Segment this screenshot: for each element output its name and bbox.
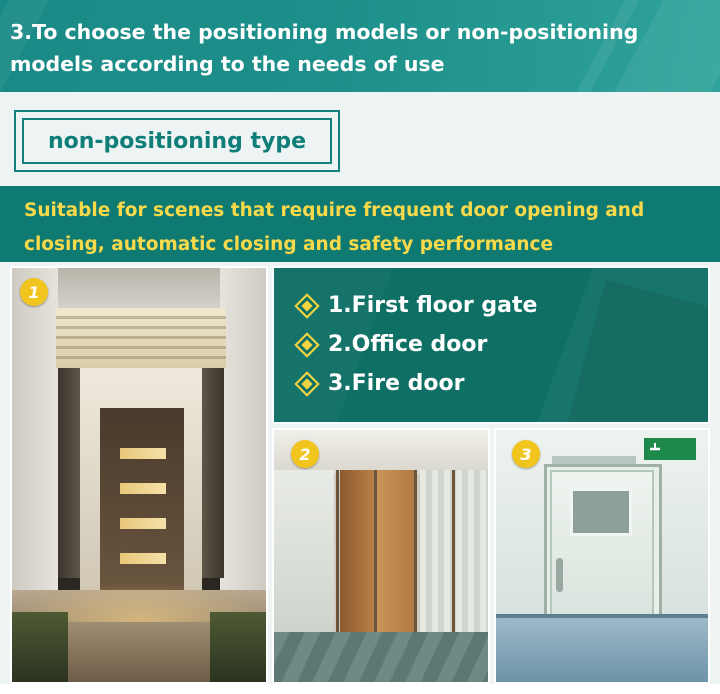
photo1-door-trim	[120, 553, 166, 564]
photo-badge-2: 2	[291, 440, 319, 468]
photo-badge-3: 3	[512, 440, 540, 468]
photo1-left-wall	[12, 268, 58, 624]
photo2-mullion	[374, 470, 377, 638]
slide-page: 3.To choose the positioning models or no…	[0, 0, 720, 694]
photo3-vision-panel	[570, 488, 632, 536]
photo1-door-trim	[120, 448, 166, 459]
photo1-right-planting	[210, 612, 266, 682]
list-item-label: 1.First floor gate	[328, 293, 537, 318]
description-band: Suitable for scenes that require frequen…	[0, 186, 720, 262]
photo1-canopy	[56, 308, 226, 368]
list-item-label: 2.Office door	[328, 332, 487, 357]
application-list-panel: 1.First floor gate 2.Office door 3.Fire …	[272, 266, 710, 424]
diamond-bullet-icon	[297, 296, 317, 316]
type-label-text: non-positioning type	[48, 129, 306, 154]
page-title: 3.To choose the positioning models or no…	[10, 16, 716, 80]
photo1-ceiling	[58, 268, 224, 310]
photo1-left-planting	[12, 612, 68, 682]
exit-sign-icon	[644, 438, 696, 460]
list-item: 1.First floor gate	[300, 286, 537, 325]
photo1-right-wall	[220, 268, 266, 624]
photo2-glass-partition-right	[420, 470, 490, 638]
application-list: 1.First floor gate 2.Office door 3.Fire …	[300, 286, 537, 403]
photo3-floor	[496, 618, 708, 682]
photo1-door-trim	[120, 483, 166, 494]
photo2-glass-partition-left	[274, 470, 334, 638]
photo3-door-handle	[556, 558, 563, 592]
photo2-mullion	[452, 470, 455, 638]
photo2-floor	[274, 632, 488, 682]
description-text: Suitable for scenes that require frequen…	[24, 194, 694, 262]
photo1-left-column	[58, 368, 80, 578]
photo-badge-1: 1	[20, 278, 48, 306]
diamond-bullet-icon	[297, 374, 317, 394]
photo1-right-column	[202, 368, 224, 578]
photo2-mullion	[336, 470, 339, 638]
photo2-mullion	[414, 470, 417, 638]
type-label: non-positioning type	[14, 110, 340, 174]
photo1-door-trim	[120, 518, 166, 529]
list-item: 2.Office door	[300, 325, 537, 364]
photo1-door	[100, 408, 184, 598]
photo2-wood-door-panel	[340, 470, 374, 638]
list-item-label: 3.Fire door	[328, 371, 465, 396]
bottom-margin	[0, 684, 720, 694]
type-label-inner-border: non-positioning type	[22, 118, 332, 164]
entrance-gate-photo	[10, 266, 268, 684]
diamond-bullet-icon	[297, 335, 317, 355]
header-banner: 3.To choose the positioning models or no…	[0, 0, 720, 92]
list-item: 3.Fire door	[300, 364, 537, 403]
